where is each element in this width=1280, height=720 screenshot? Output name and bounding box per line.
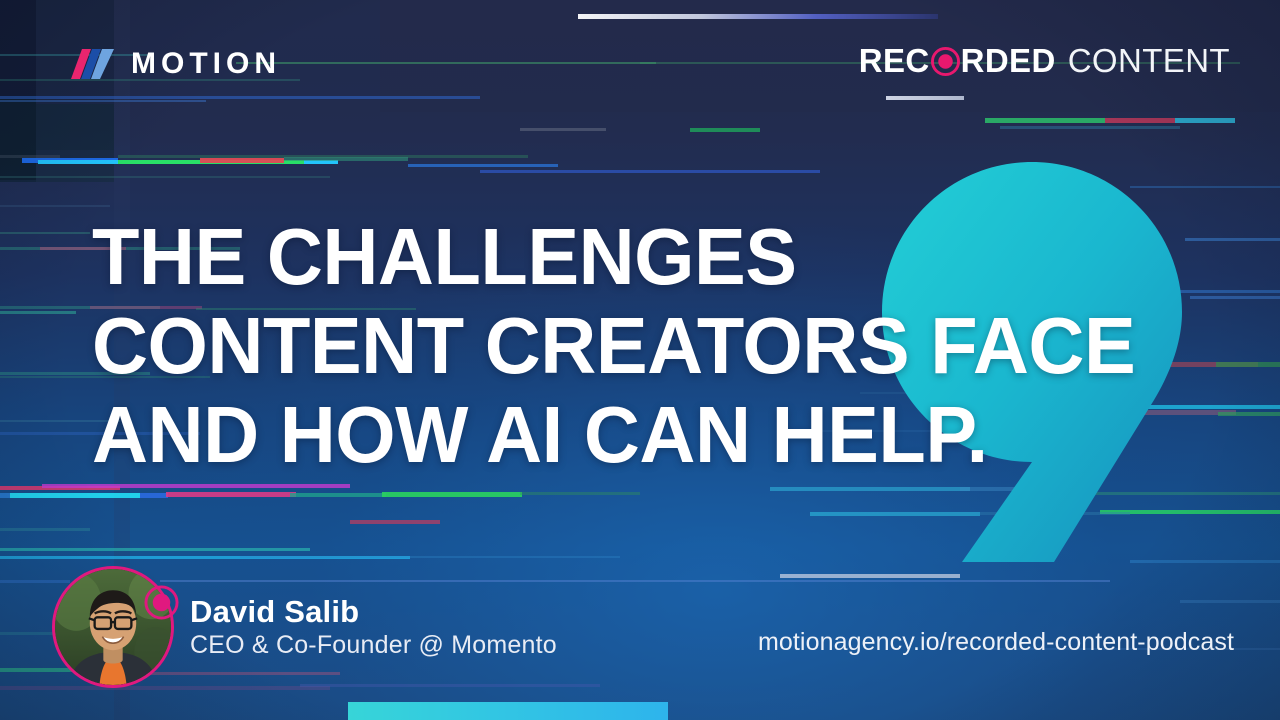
speaker-name: David Salib <box>190 596 557 627</box>
glitch-streak <box>520 128 606 131</box>
bottom-accent-bar <box>348 702 668 720</box>
glitch-streak <box>1100 405 1280 409</box>
glitch-streak <box>1185 238 1280 241</box>
glitch-streak <box>0 205 110 207</box>
glitch-streak <box>200 158 284 163</box>
glitch-streak <box>284 157 408 161</box>
glitch-streak <box>408 164 558 167</box>
glitch-streak <box>1130 186 1280 188</box>
page-title: THE CHALLENGES CONTENT CREATORS FACE AND… <box>92 212 1092 479</box>
glitch-streak <box>0 528 90 531</box>
recorded-suffix: RDED <box>961 44 1056 77</box>
glitch-streak <box>960 487 1090 491</box>
glitch-streak <box>520 492 640 495</box>
glitch-streak <box>0 311 76 314</box>
glitch-streak <box>1130 560 1280 563</box>
podcast-url[interactable]: motionagency.io/recorded-content-podcast <box>758 628 1234 657</box>
glitch-streak <box>0 96 480 99</box>
glitch-streak <box>240 556 620 558</box>
glitch-streak <box>0 556 410 559</box>
motion-logo[interactable]: MOTION <box>62 42 281 86</box>
glitch-streak <box>780 574 960 578</box>
speaker-role: CEO & Co-Founder @ Momento <box>190 633 557 658</box>
headline-line-3: AND HOW AI CAN HELP. <box>92 390 1062 479</box>
glitch-streak <box>0 232 90 234</box>
headline-line-2: CONTENT CREATORS FACE <box>92 301 1062 390</box>
recorded-content-underline <box>886 96 964 100</box>
glitch-streak <box>1136 410 1236 415</box>
glitch-streak <box>0 486 120 490</box>
glitch-streak <box>1180 600 1280 603</box>
glitch-streak <box>1190 296 1280 299</box>
glitch-streak <box>140 493 168 498</box>
recorded-content-lockup[interactable]: REC RDED CONTENT <box>859 44 1230 77</box>
glitch-streak <box>0 548 310 551</box>
glitch-streak <box>1218 412 1280 416</box>
glitch-streak <box>290 493 386 497</box>
glitch-streak <box>480 170 820 173</box>
glitch-streak <box>0 155 60 158</box>
glitch-streak <box>1175 118 1235 123</box>
speaker-text: David Salib CEO & Co-Founder @ Momento <box>190 596 557 658</box>
background-slab <box>0 96 36 182</box>
glitch-streak <box>810 512 980 516</box>
glitch-streak <box>1216 362 1280 367</box>
glitch-streak <box>382 492 522 497</box>
glitch-streak <box>0 100 206 102</box>
glitch-streak <box>690 128 760 132</box>
speaker-block: David Salib CEO & Co-Founder @ Momento <box>52 566 557 688</box>
glitch-streak <box>118 155 528 158</box>
recorded-prefix: REC <box>859 44 930 77</box>
glitch-streak <box>236 62 656 64</box>
background-slab <box>0 0 36 180</box>
glitch-streak <box>578 14 938 19</box>
glitch-streak <box>980 512 1130 515</box>
glitch-streak <box>985 118 1105 123</box>
motion-parallelogram-mark <box>62 49 114 79</box>
glitch-streak <box>10 493 140 498</box>
glitch-streak <box>118 160 304 164</box>
content-word: CONTENT <box>1068 44 1230 77</box>
title-card: MOTION REC RDED CONTENT THE CHALLENGES C… <box>0 0 1280 720</box>
glitch-streak <box>0 493 60 498</box>
record-dot-icon <box>931 47 960 76</box>
glitch-streak <box>42 484 350 488</box>
glitch-streak <box>166 492 296 497</box>
background-slab <box>36 104 114 182</box>
glitch-streak <box>1060 492 1280 495</box>
glitch-streak <box>1148 290 1280 293</box>
glitch-streak <box>350 520 440 524</box>
headline-line-1: THE CHALLENGES <box>92 212 1062 301</box>
record-badge-icon <box>144 585 179 620</box>
motion-wordmark: MOTION <box>131 49 281 79</box>
glitch-streak <box>1105 118 1175 123</box>
glitch-streak <box>0 176 330 178</box>
glitch-streak <box>38 160 338 164</box>
glitch-streak <box>1100 510 1280 514</box>
glitch-streak <box>1136 362 1258 367</box>
glitch-streak <box>22 158 118 163</box>
avatar <box>52 566 174 688</box>
glitch-streak <box>770 487 970 491</box>
glitch-streak <box>1000 126 1180 129</box>
